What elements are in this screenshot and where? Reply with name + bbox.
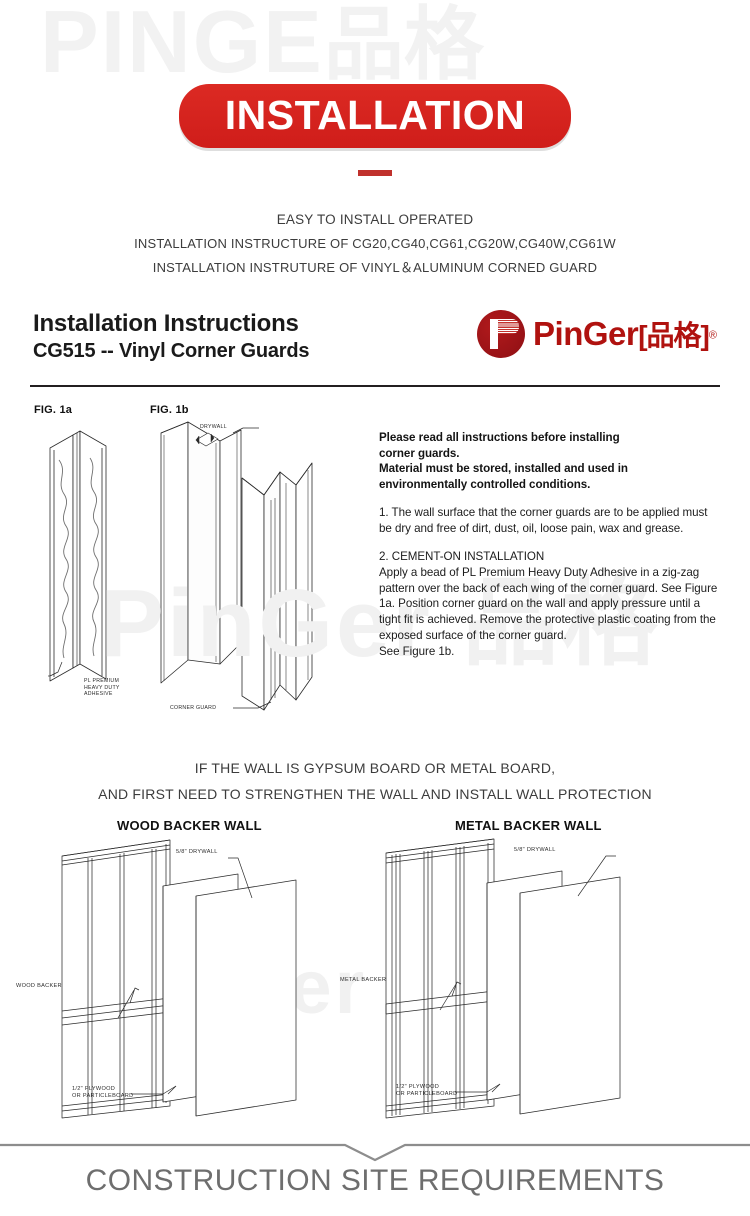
warning-line-1: Please read all instructions before inst…	[379, 430, 719, 446]
bottom-divider-svg	[0, 1140, 750, 1162]
callout-pl-premium-l2: HEAVY DUTY	[84, 685, 120, 692]
wall-diagrams-section: WOOD BACKER WALL METAL BACKER WALL	[0, 818, 750, 1128]
page-title: Installation Instructions	[33, 310, 309, 338]
title-block: Installation Instructions CG515 -- Vinyl…	[33, 308, 309, 364]
mid-notice-block: IF THE WALL IS GYPSUM BOARD OR METAL BOA…	[0, 755, 750, 807]
instructions-warning: Please read all instructions before inst…	[379, 430, 719, 492]
callout-plywood-left-l2: OR PARTICLEBOARD	[72, 1093, 133, 1100]
mid-notice-line-1: IF THE WALL IS GYPSUM BOARD OR METAL BOA…	[0, 755, 750, 781]
instruction-step-2: 2. CEMENT-ON INSTALLATION Apply a bead o…	[379, 549, 719, 660]
callout-plywood-right-l1: 1/2" PLYWOOD	[396, 1084, 457, 1091]
banner-container: INSTALLATION	[0, 84, 750, 148]
subheader-block: EASY TO INSTALL OPERATED INSTALLATION IN…	[0, 208, 750, 280]
footer-title: CONSTRUCTION SITE REQUIREMENTS	[0, 1162, 750, 1200]
callout-drywall-right: 5/8" DRYWALL	[514, 847, 556, 854]
logo-text-group: PinGer[品格]®	[533, 314, 717, 354]
bottom-divider	[0, 1140, 750, 1162]
callout-drywall: DRYWALL	[200, 424, 227, 431]
instruction-step-2-title: 2. CEMENT-ON INSTALLATION	[379, 549, 719, 565]
installation-banner: INSTALLATION	[179, 84, 572, 148]
top-watermark-latin: PINGE	[40, 0, 324, 91]
callout-drywall-left: 5/8" DRYWALL	[176, 849, 218, 856]
logo-wordmark: PinGer	[533, 315, 638, 352]
installation-instruction-page: PINGE品格 INSTALLATION EASY TO INSTALL OPE…	[0, 0, 750, 1216]
warning-line-3: Material must be stored, installed and u…	[379, 461, 719, 477]
pinger-logo-icon	[477, 310, 525, 358]
callout-wood-backer: WOOD BACKER	[16, 983, 62, 990]
callout-corner-guard: CORNER GUARD	[170, 705, 216, 712]
figures-svg	[28, 400, 368, 730]
figures-area: FIG. 1a FIG. 1b	[28, 400, 368, 730]
mid-notice-line-2: AND FIRST NEED TO STRENGTHEN THE WALL AN…	[0, 781, 750, 807]
banner-divider-dash	[358, 170, 392, 176]
logo-stem	[490, 319, 498, 349]
callout-metal-backer: METAL BACKER	[340, 977, 386, 984]
callout-pl-premium-l1: PL PREMIUM	[84, 678, 120, 685]
title-row: Installation Instructions CG515 -- Vinyl…	[33, 308, 717, 374]
callout-plywood-right: 1/2" PLYWOOD OR PARTICLEBOARD	[396, 1084, 457, 1098]
warning-line-2: corner guards.	[379, 446, 719, 462]
wall-diagrams-svg	[0, 818, 750, 1128]
subheader-line-2: INSTALLATION INSTRUCTURE OF CG20,CG40,CG…	[0, 232, 750, 256]
pinger-logo: PinGer[品格]®	[477, 308, 717, 358]
page-subtitle: CG515 -- Vinyl Corner Guards	[33, 338, 309, 364]
logo-cjk: [品格]	[638, 320, 709, 351]
callout-pl-premium-l3: ADHESIVE	[84, 691, 120, 698]
warning-line-4: environmentally controlled conditions.	[379, 477, 719, 493]
logo-flag	[498, 319, 519, 334]
instructions-block: Please read all instructions before inst…	[379, 430, 719, 660]
callout-plywood-right-l2: OR PARTICLEBOARD	[396, 1091, 457, 1098]
callout-plywood-left: 1/2" PLYWOOD OR PARTICLEBOARD	[72, 1086, 133, 1100]
instruction-step-2-body: Apply a bead of PL Premium Heavy Duty Ad…	[379, 565, 719, 660]
callout-plywood-left-l1: 1/2" PLYWOOD	[72, 1086, 133, 1093]
subheader-line-3: INSTALLATION INSTRUTURE OF VINYL＆ALUMINU…	[0, 256, 750, 280]
subheader-line-1: EASY TO INSTALL OPERATED	[0, 208, 750, 232]
header-divider-rule	[30, 385, 720, 387]
top-watermark-cjk: 品格	[324, 0, 484, 89]
instruction-step-1: 1. The wall surface that the corner guar…	[379, 505, 719, 537]
registered-trademark-icon: ®	[709, 330, 717, 342]
callout-pl-premium: PL PREMIUM HEAVY DUTY ADHESIVE	[84, 678, 120, 698]
